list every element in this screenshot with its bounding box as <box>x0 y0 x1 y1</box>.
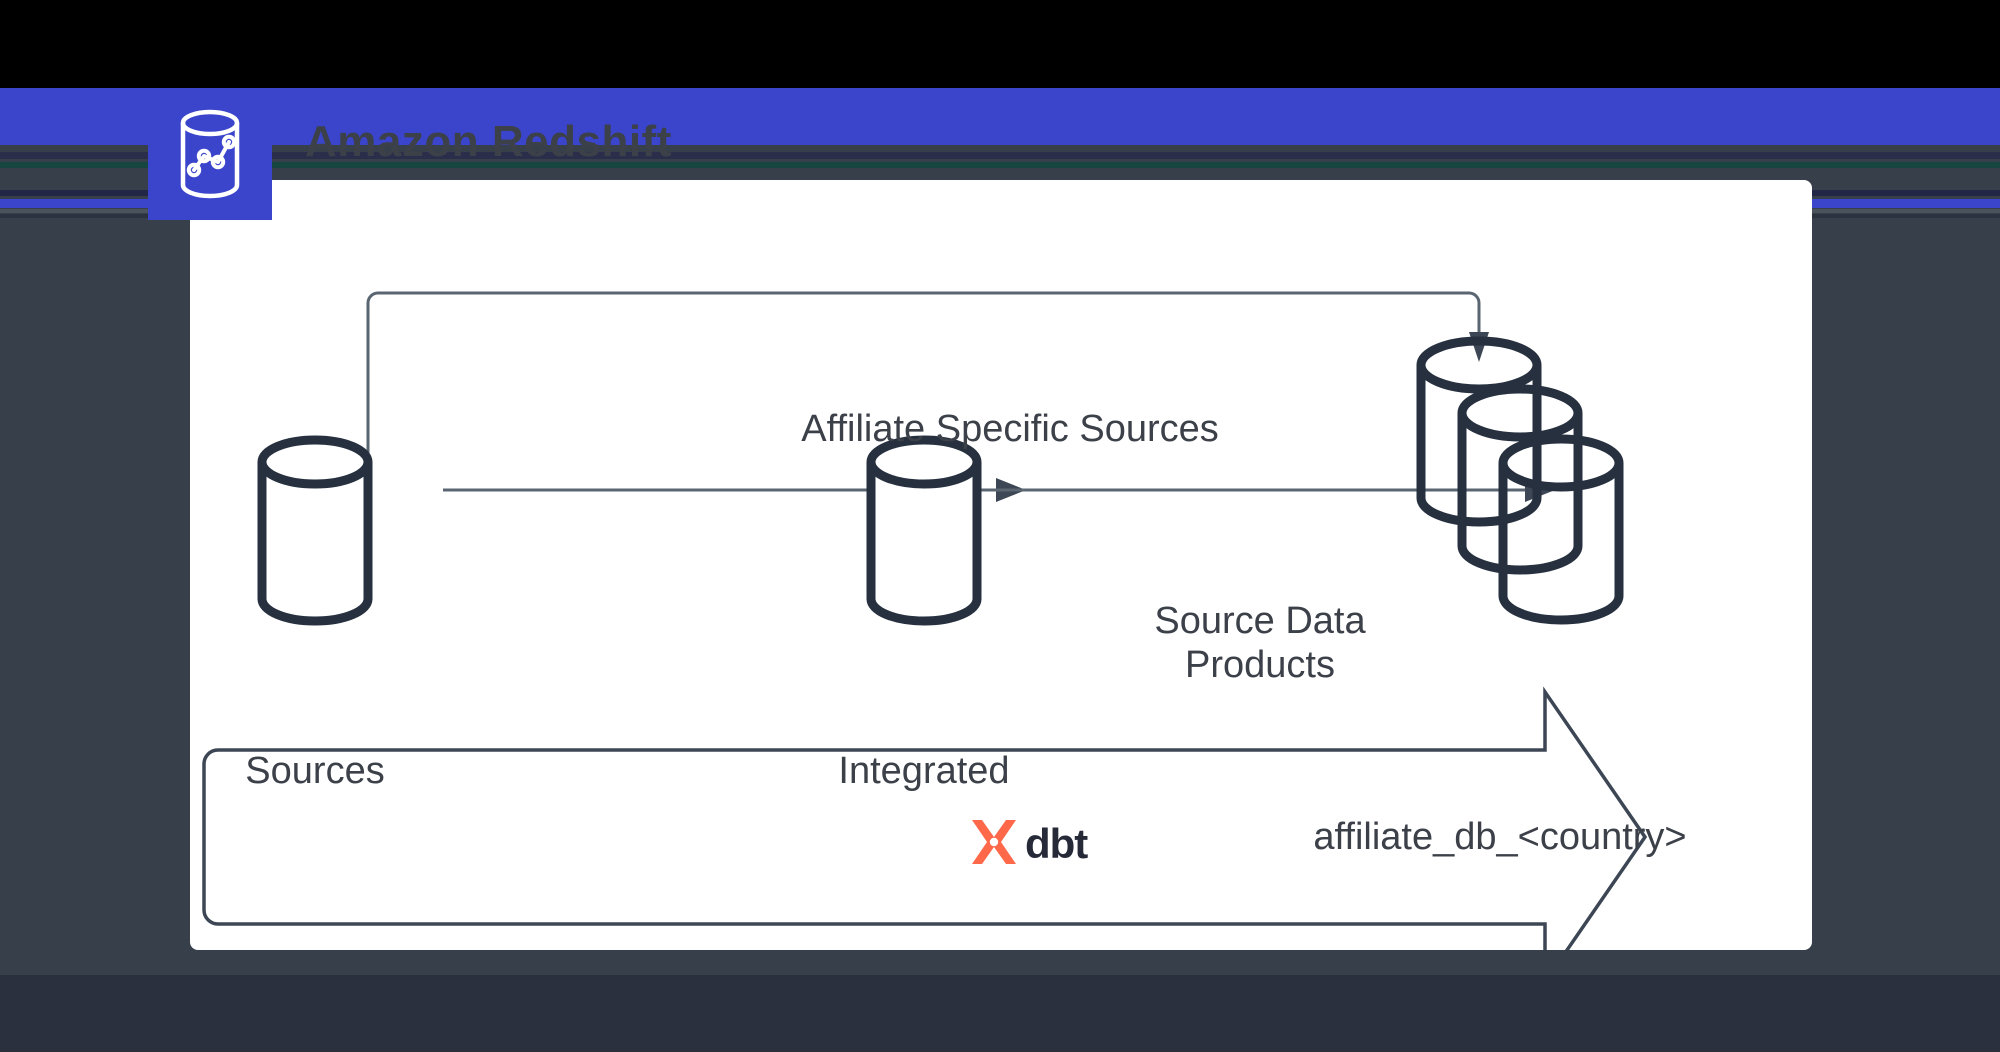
dbt-logo-text: dbt <box>1025 820 1087 868</box>
decor-stripe-navy-1 <box>0 152 2000 159</box>
edge-label-line-1: Source Data <box>1060 600 1460 644</box>
edge-label-affiliate-specific-sources: Affiliate Specific Sources <box>710 408 1310 451</box>
decor-stripe-green <box>0 162 2000 168</box>
page-title: Amazon Redshift <box>305 117 672 167</box>
node-label-integrated: Integrated <box>824 750 1024 793</box>
page-footer-background <box>0 975 2000 1052</box>
diagram-card: Affiliate Specific Sources Sources Integ… <box>190 180 1812 950</box>
screenshot-root: Amazon Redshift <box>0 0 2000 1052</box>
amazon-redshift-badge <box>148 88 272 220</box>
node-label-sources: Sources <box>215 750 415 793</box>
edge-label-source-data-products: Source Data Products <box>1060 600 1460 687</box>
redshift-cluster-icon <box>175 108 245 200</box>
node-label-affiliate-db: affiliate_db_<country> <box>1190 816 1810 859</box>
node-affiliate-db-stack[interactable] <box>1421 341 1619 620</box>
node-integrated[interactable] <box>871 440 977 621</box>
edge-source-data-products <box>980 478 1555 502</box>
top-black-bar <box>0 0 2000 88</box>
header-blue-band <box>0 88 2000 145</box>
edge-label-line-2: Products <box>1060 644 1460 688</box>
node-sources[interactable] <box>262 440 368 621</box>
